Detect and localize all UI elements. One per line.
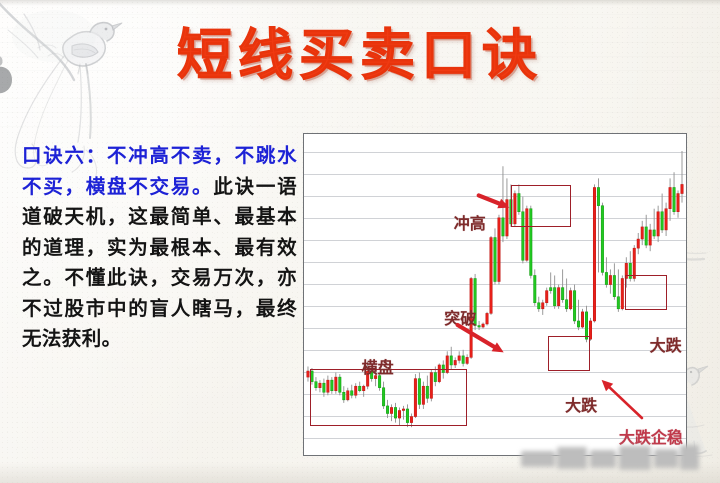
annotation-box (625, 275, 667, 310)
verse-text-block: 口诀六：不冲高不卖，不跳水不买，横盘不交易。此诀一语道破天机，这最简单、最基本的… (22, 141, 297, 355)
annotation-box (548, 336, 590, 371)
annotation-label: 横盘 (362, 359, 394, 377)
annotation-label: 大跌企稳 (619, 429, 683, 447)
annotation-box (511, 185, 571, 228)
annotation-label: 突破 (444, 310, 476, 328)
annotation-box (310, 369, 467, 425)
verse-body: 此诀一语道破天机，这最简单、最基本的道理，实为最根本、最有效之。不懂此诀，交易万… (22, 175, 297, 351)
annotation-label: 大跌 (650, 337, 682, 355)
annotation-label: 大跌 (565, 397, 597, 415)
top-edge-shadow (0, 0, 720, 6)
candlestick-chart-panel[interactable]: 横盘突破冲高大跌大跌大跌企稳 (303, 133, 687, 456)
annotation-label: 冲高 (454, 215, 486, 233)
page-root: 短线买卖口诀 口诀六：不冲高不卖，不跳水不买，横盘不交易。此诀一语道破天机，这最… (0, 0, 720, 483)
page-title: 短线买卖口诀 (0, 22, 720, 88)
bottom-fade (0, 462, 720, 483)
